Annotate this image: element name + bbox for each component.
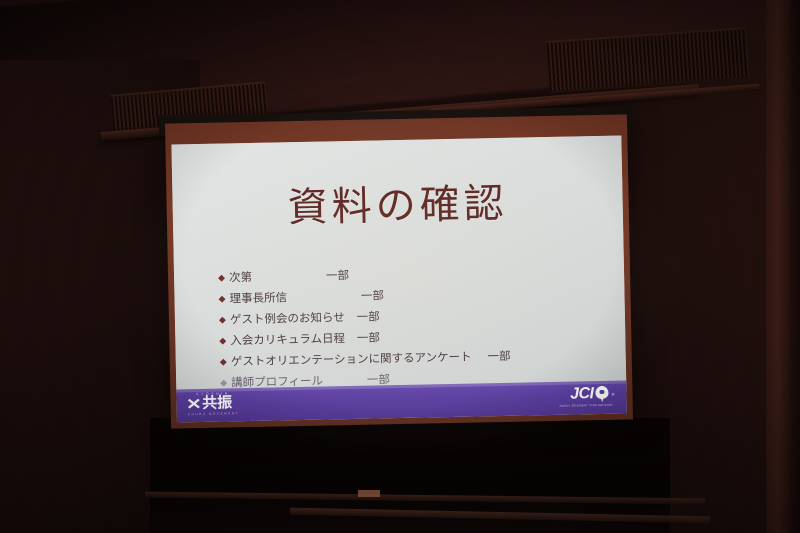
room-wall-right-shadow bbox=[790, 0, 800, 533]
list-item: ◆ ゲスト例会のお知らせ 一部 bbox=[219, 304, 615, 328]
list-item: ◆ 入会カリキュラム日程 一部 bbox=[219, 325, 615, 349]
slide-title: 資料の確認 bbox=[172, 182, 623, 231]
jci-wordmark: JCI bbox=[570, 386, 594, 402]
list-item-label: ゲスト例会のお知らせ bbox=[230, 309, 345, 327]
list-item-label: 入会カリキュラム日程 bbox=[230, 330, 345, 348]
jci-logo: JCI ® Junior Chamber International bbox=[559, 386, 615, 408]
stage-rail-tag bbox=[358, 490, 380, 497]
cross-mark-icon: ✕ bbox=[186, 398, 202, 412]
list-item-label: 理事長所信 bbox=[229, 289, 287, 306]
presentation-slide: 資料の確認 ◆ 次第 一部 ◆ 理事長所信 一部 ◆ ゲスト例会のお知ら bbox=[171, 136, 626, 423]
kyoshin-logo-bottom-text: CHUBU MOVEMENT bbox=[188, 413, 239, 417]
diamond-bullet-icon: ◆ bbox=[219, 336, 230, 345]
kyoshin-logo-mark-row: ✕ 共振 bbox=[187, 397, 239, 413]
jci-logo-subtitle: Junior Chamber International bbox=[559, 403, 613, 408]
diamond-bullet-icon: ◆ bbox=[218, 294, 229, 303]
list-item: ◆ 理事長所信 一部 bbox=[218, 283, 614, 307]
list-item: ◆ ゲストオリエンテーションに関するアンケート 一部 bbox=[220, 346, 616, 370]
list-item: ◆ 次第 一部 bbox=[218, 262, 614, 286]
kyoshin-logo-kanji: 共振 bbox=[202, 397, 232, 413]
list-item-quantity: 一部 bbox=[487, 348, 510, 364]
list-item-label: 次第 bbox=[229, 269, 252, 285]
registered-trademark-icon: ® bbox=[611, 391, 614, 396]
list-item-quantity: 一部 bbox=[326, 267, 349, 283]
projector-screen: 資料の確認 ◆ 次第 一部 ◆ 理事長所信 一部 ◆ ゲスト例会のお知ら bbox=[165, 114, 633, 428]
diamond-bullet-icon: ◆ bbox=[220, 357, 231, 366]
diamond-bullet-icon: ◆ bbox=[219, 315, 230, 324]
slide-body: 資料の確認 ◆ 次第 一部 ◆ 理事長所信 一部 ◆ ゲスト例会のお知ら bbox=[171, 136, 626, 390]
list-item-label: ゲストオリエンテーションに関するアンケート bbox=[231, 349, 472, 370]
list-item-quantity: 一部 bbox=[357, 329, 380, 345]
photograph-of-projected-slide: 資料の確認 ◆ 次第 一部 ◆ 理事長所信 一部 ◆ ゲスト例会のお知ら bbox=[0, 0, 800, 533]
diamond-bullet-icon: ◆ bbox=[218, 273, 229, 282]
list-item-quantity: 一部 bbox=[357, 308, 380, 324]
jci-logo-mark-row: JCI ® bbox=[570, 386, 615, 403]
kyoshin-logo: KYOSHIN ✕ 共振 CHUBU MOVEMENT bbox=[187, 392, 239, 416]
diamond-bullet-icon: ◆ bbox=[220, 378, 231, 387]
list-item-quantity: 一部 bbox=[361, 287, 384, 303]
map-pin-icon bbox=[595, 386, 608, 402]
room-wall-right-pillar bbox=[766, 0, 792, 533]
